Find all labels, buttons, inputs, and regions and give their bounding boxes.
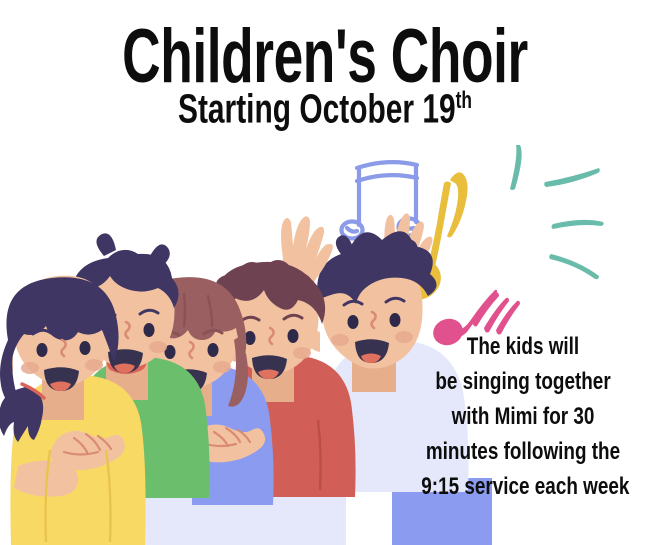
eye-left-white [348, 315, 359, 329]
sparkle-stroke-3-icon [552, 220, 604, 229]
sparkle-group [510, 145, 604, 279]
cheek-right-green [149, 341, 167, 353]
eye-left-yellow [37, 343, 48, 357]
sparkle-stroke-2-icon [544, 168, 600, 187]
eye-right-yellow [80, 341, 91, 355]
cheek-left-yellow [21, 362, 39, 374]
cheek-right-periwinkle [213, 361, 231, 373]
eye-right-red [288, 329, 299, 343]
cheek-right-yellow [85, 359, 103, 371]
cheek-right-red [293, 347, 311, 359]
sparkle-stroke-1-icon [510, 145, 522, 190]
eye-right-periwinkle [208, 343, 219, 357]
cheek-left-white [331, 334, 349, 346]
flagged-note-pink-icon [430, 290, 520, 349]
cheek-right-white [395, 331, 413, 343]
hair-tuft-green-1 [96, 233, 116, 256]
eye-right-white [390, 313, 401, 327]
eye-right-green [144, 323, 155, 337]
poster-canvas: Children's Choir Starting October 19th [0, 0, 650, 545]
illustration-layer [0, 0, 650, 545]
sparkle-stroke-4-icon [549, 254, 599, 279]
